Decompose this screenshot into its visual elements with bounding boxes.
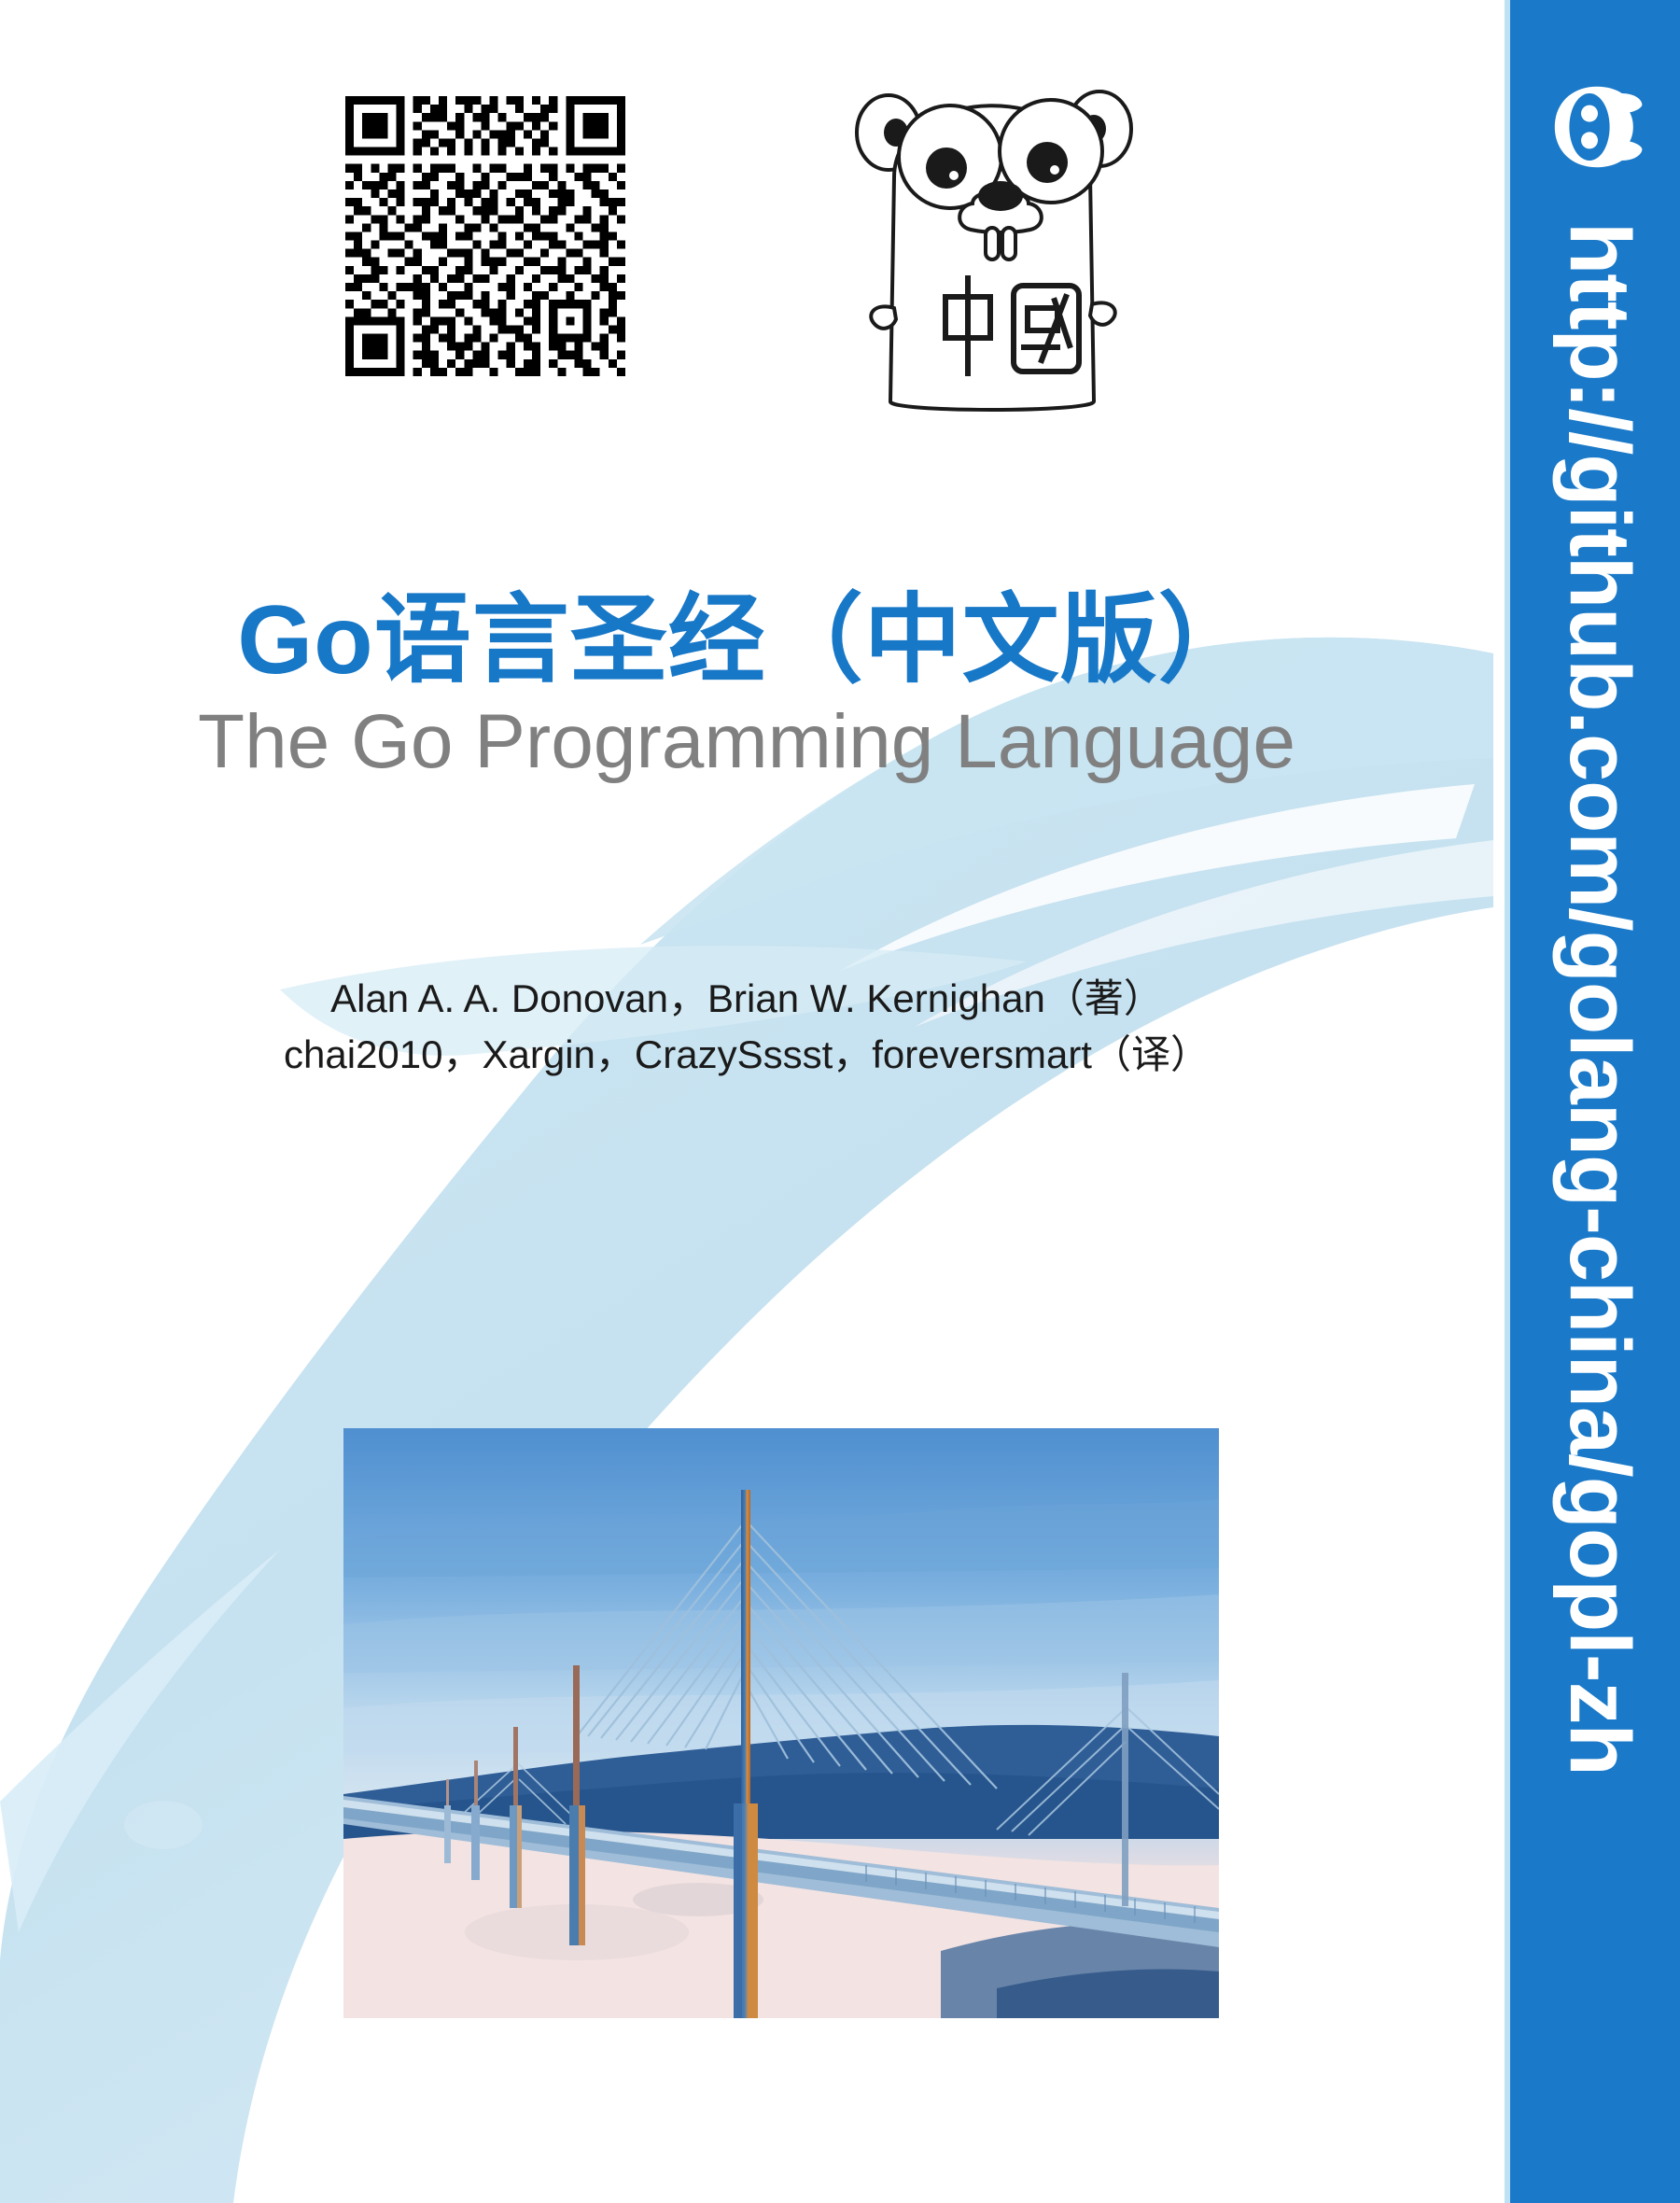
github-url-text: http://github.com/golang-china/gopl-zh [1550,222,1648,1775]
go-gopher-mascot-icon [831,28,1148,420]
octocat-icon [1539,71,1651,183]
title-block: Go语言圣经（中文版） The Go Programming Language [0,588,1493,787]
millau-viaduct-bridge-photo [343,1428,1219,2018]
book-cover: Go语言圣经（中文版） The Go Programming Language … [0,0,1680,2203]
authors-original: Alan A. A. Donovan，Brian W. Kernighan（著） [0,971,1493,1027]
page-subtitle-english: The Go Programming Language [0,698,1493,786]
page-title-chinese: Go语言圣经（中文版） [0,588,1493,693]
github-sidebar: http://github.com/golang-china/gopl-zh [1510,0,1680,2203]
github-url[interactable]: http://github.com/golang-china/gopl-zh [1510,222,1680,1996]
qr-code-icon [327,96,644,376]
author-block: Alan A. A. Donovan，Brian W. Kernighan（著）… [0,971,1493,1082]
authors-translators: chai2010，Xargin，CrazySssst，foreversmart（… [0,1027,1493,1083]
